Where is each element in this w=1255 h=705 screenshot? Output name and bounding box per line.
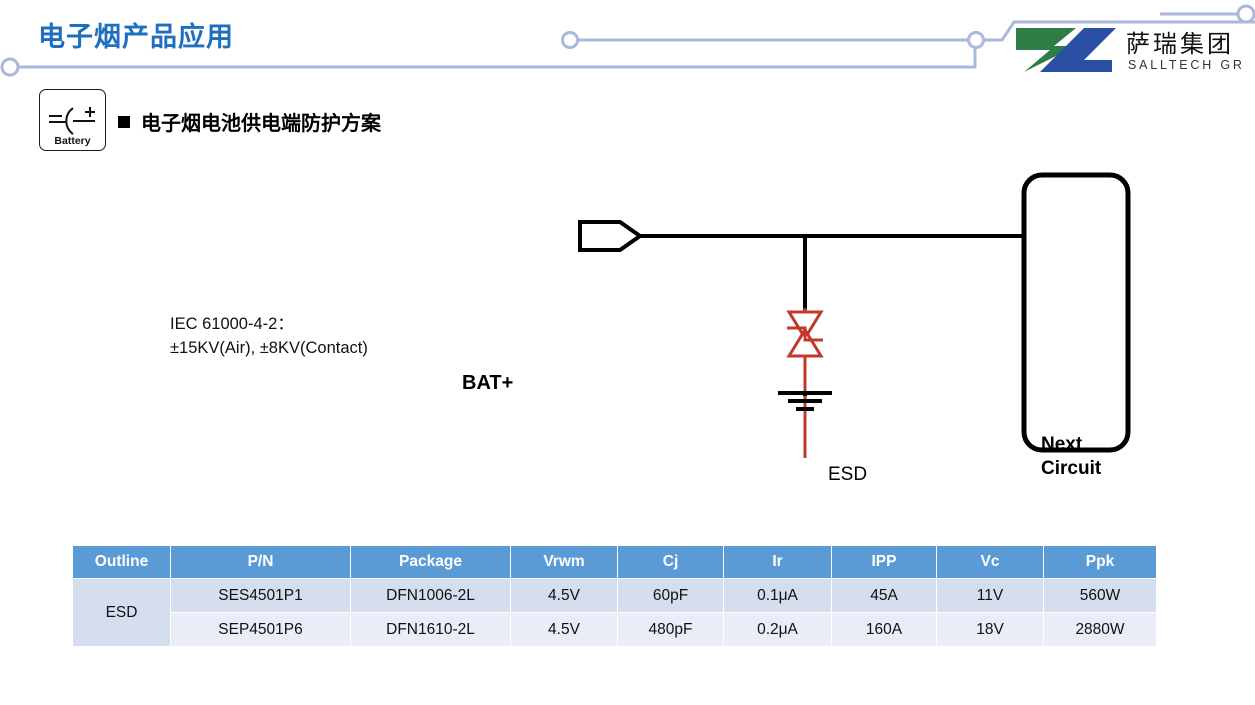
cell-ir: 0.2μA xyxy=(724,613,832,647)
column-header-cj: Cj xyxy=(618,546,724,579)
cell-pn: SEP4501P6 xyxy=(171,613,351,647)
square-bullet-icon xyxy=(118,116,130,128)
battery-icon: Battery xyxy=(39,89,106,151)
column-header-pn: P/N xyxy=(171,546,351,579)
section-heading-label: 电子烟电池供电端防护方案 xyxy=(141,107,381,136)
cell-vrwm: 4.5V xyxy=(511,613,618,647)
page-title: 电子烟产品应用 xyxy=(38,15,234,54)
cell-vrwm: 4.5V xyxy=(511,579,618,613)
section-heading: 电子烟电池供电端防护方案 xyxy=(118,107,381,136)
cell-vc: 11V xyxy=(937,579,1044,613)
bat-plus-label: BAT+ xyxy=(462,372,513,395)
cell-ir: 0.1μA xyxy=(724,579,832,613)
cell-package: DFN1006-2L xyxy=(351,579,511,613)
cell-vc: 18V xyxy=(937,613,1044,647)
outline-group-cell: ESD xyxy=(73,579,171,647)
esd-spec-table: Outline P/N Package Vrwm Cj Ir IPP Vc Pp… xyxy=(72,545,1157,647)
column-header-vrwm: Vrwm xyxy=(511,546,618,579)
table-row: SEP4501P6 DFN1610-2L 4.5V 480pF 0.2μA 16… xyxy=(73,613,1157,647)
cell-cj: 480pF xyxy=(618,613,724,647)
column-header-vc: Vc xyxy=(937,546,1044,579)
logo-cn-name: 萨瑞集团 xyxy=(1126,31,1234,58)
column-header-ir: Ir xyxy=(724,546,832,579)
battery-icon-label: Battery xyxy=(54,135,90,147)
next-circuit-block xyxy=(1024,175,1128,450)
logo-en-name: SALLTECH GROUP xyxy=(1128,58,1245,72)
esd-component-label: ESD xyxy=(828,464,867,486)
cell-package: DFN1610-2L xyxy=(351,613,511,647)
cell-ppk: 2880W xyxy=(1044,613,1157,647)
column-header-outline: Outline xyxy=(73,546,171,579)
cell-ppk: 560W xyxy=(1044,579,1157,613)
cell-ipp: 45A xyxy=(832,579,937,613)
esd-protection-circuit-diagram: IEC 61000-4-2： ±15KV(Air), ±8KV(Contact)… xyxy=(0,150,1255,520)
cell-cj: 60pF xyxy=(618,579,724,613)
next-circuit-label-line2: Circuit xyxy=(1041,457,1101,481)
table-header-row: Outline P/N Package Vrwm Cj Ir IPP Vc Pp… xyxy=(73,546,1157,579)
cell-ipp: 160A xyxy=(832,613,937,647)
cell-pn: SES4501P1 xyxy=(171,579,351,613)
column-header-ipp: IPP xyxy=(832,546,937,579)
salltech-logo-icon: 萨瑞集团 SALLTECH GROUP xyxy=(1010,22,1245,74)
column-header-package: Package xyxy=(351,546,511,579)
next-circuit-label-line1: Next xyxy=(1041,433,1101,457)
column-header-ppk: Ppk xyxy=(1044,546,1157,579)
table-row: ESD SES4501P1 DFN1006-2L 4.5V 60pF 0.1μA… xyxy=(73,579,1157,613)
page-header: 电子烟产品应用 萨瑞集团 SALLTECH GROUP xyxy=(0,0,1255,90)
next-circuit-label: Next Circuit xyxy=(1041,433,1101,482)
